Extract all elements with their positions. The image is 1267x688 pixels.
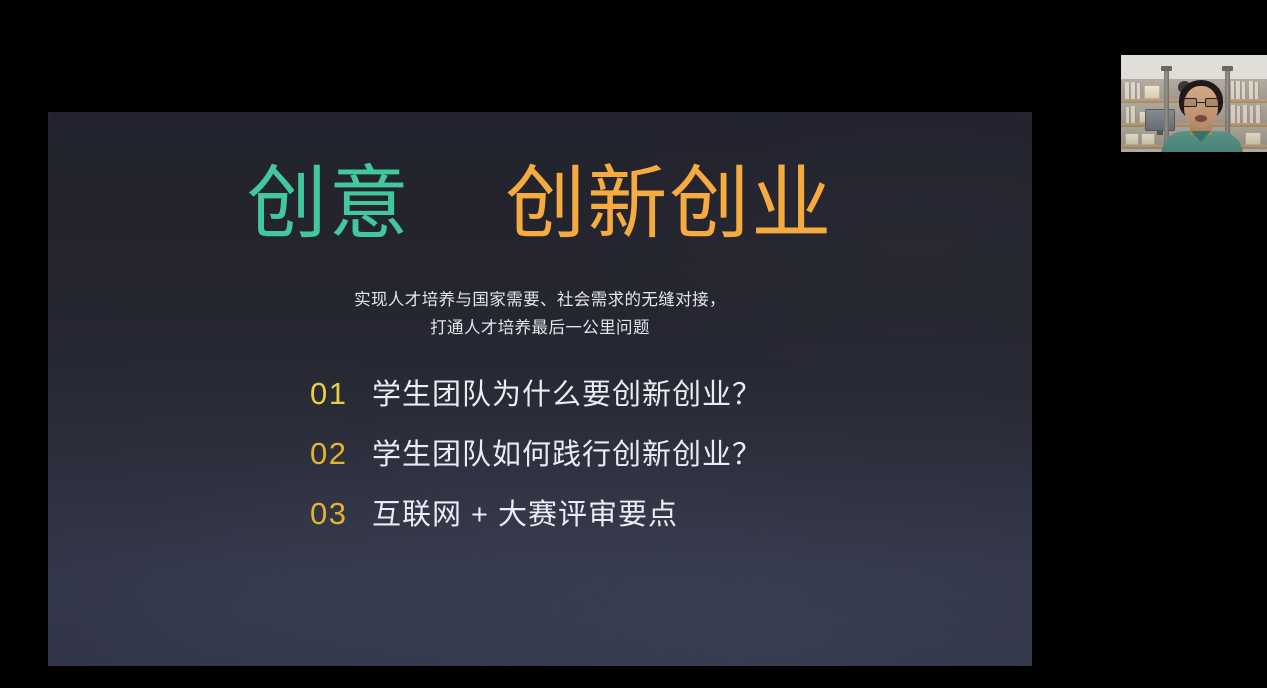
webcam-monitor-stand bbox=[1157, 131, 1163, 135]
agenda-item-02: 02 学生团队如何践行创新创业？ bbox=[310, 434, 1032, 475]
glasses-icon bbox=[1183, 98, 1220, 107]
agenda-item-03-label: 互联网 + 大赛评审要点 bbox=[372, 496, 678, 534]
webcam-storage-box bbox=[1144, 85, 1160, 99]
webcam-shelf-post-cap bbox=[1222, 66, 1233, 71]
webcam-book bbox=[1137, 83, 1141, 99]
agenda-list: 01 学生团队为什么要创新创业？ 02 学生团队如何践行创新创业？ 03 互联网… bbox=[310, 374, 1032, 535]
slide-title: 创意 创新创业 bbox=[48, 164, 1032, 244]
webcam-presenter-mouth bbox=[1195, 115, 1207, 122]
webcam-glasses-lens-right bbox=[1205, 98, 1219, 107]
agenda-item-02-label: 学生团队如何践行创新创业？ bbox=[372, 436, 762, 474]
webcam-storage-box bbox=[1125, 133, 1139, 145]
agenda-item-01-number: 01 bbox=[310, 374, 372, 415]
webcam-glasses-lens-left bbox=[1183, 98, 1197, 107]
agenda-item-03: 03 互联网 + 大赛评审要点 bbox=[310, 494, 1032, 535]
webcam-book bbox=[1231, 105, 1236, 123]
webcam-monitor bbox=[1145, 109, 1175, 131]
webcam-storage-box bbox=[1141, 133, 1155, 145]
webcam-book bbox=[1125, 82, 1130, 99]
webcam-shelf-post-cap bbox=[1161, 66, 1172, 71]
webcam-book bbox=[1249, 81, 1254, 99]
webcam-book bbox=[1126, 107, 1130, 123]
webcam-book bbox=[1237, 106, 1241, 123]
slide-subtitle: 实现人才培养与国家需要、社会需求的无缝对接， 打通人才培养最后一公里问题 bbox=[48, 286, 1032, 343]
webcam-book bbox=[1231, 81, 1235, 99]
slide-title-orange-part: 创新创业 bbox=[505, 159, 833, 248]
slide-canvas: 创意 创新创业 实现人才培养与国家需要、社会需求的无缝对接， 打通人才培养最后一… bbox=[48, 112, 1032, 666]
webcam-glasses-bridge bbox=[1197, 102, 1205, 103]
agenda-item-03-number: 03 bbox=[310, 494, 372, 535]
webcam-book bbox=[1242, 82, 1246, 99]
agenda-item-01: 01 学生团队为什么要创新创业？ bbox=[310, 374, 1032, 415]
agenda-item-01-label: 学生团队为什么要创新创业？ bbox=[372, 376, 762, 414]
webcam-book bbox=[1131, 106, 1136, 123]
webcam-book bbox=[1236, 81, 1241, 99]
slide-subtitle-line-1: 实现人才培养与国家需要、社会需求的无缝对接， bbox=[48, 286, 1032, 314]
slide-title-teal-part: 创意 bbox=[247, 159, 411, 248]
webcam-storage-box bbox=[1245, 132, 1261, 145]
webcam-ceiling-strip bbox=[1121, 55, 1267, 79]
webcam-book bbox=[1250, 106, 1254, 123]
presenter-video-thumbnail[interactable] bbox=[1121, 55, 1267, 152]
webcam-book bbox=[1255, 82, 1259, 99]
webcam-book bbox=[1243, 105, 1248, 123]
slide-subtitle-line-2: 打通人才培养最后一公里问题 bbox=[48, 314, 1032, 342]
webcam-book bbox=[1131, 82, 1136, 99]
webcam-book bbox=[1256, 105, 1261, 123]
presentation-screen: 创意 创新创业 实现人才培养与国家需要、社会需求的无缝对接， 打通人才培养最后一… bbox=[0, 0, 1267, 688]
agenda-item-02-number: 02 bbox=[310, 434, 372, 475]
